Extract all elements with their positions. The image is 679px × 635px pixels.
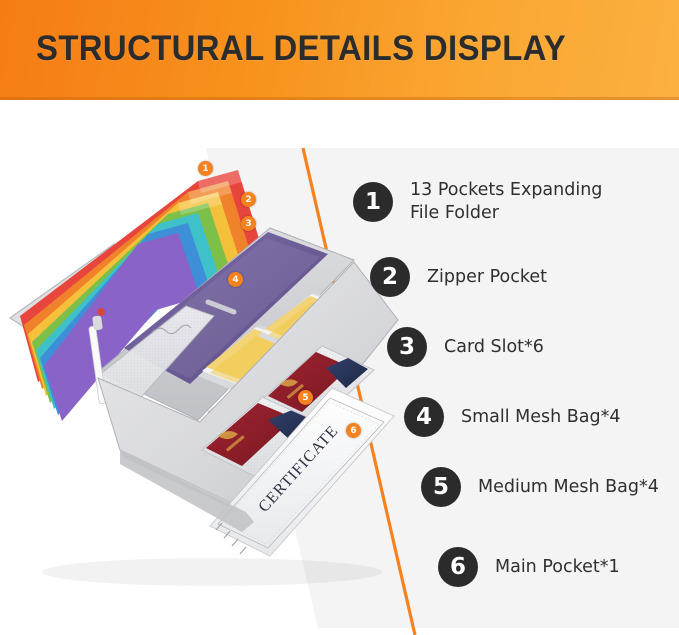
feature-number-2: 2 [370, 257, 410, 297]
header-banner: STRUCTURAL DETAILS DISPLAY [0, 0, 679, 100]
feature-item-2: 2 Zipper Pocket [370, 257, 547, 297]
feature-label-6: Main Pocket*1 [495, 556, 620, 579]
feature-number-5: 5 [421, 467, 461, 507]
feature-label-2: Zipper Pocket [427, 266, 547, 289]
feature-number-4: 4 [404, 397, 444, 437]
feature-label-3: Card Slot*6 [444, 336, 544, 359]
content-area: CERTIFICATE 1 2 3 4 5 6 1 13 Pockets Exp… [0, 100, 679, 635]
feature-item-5: 5 Medium Mesh Bag*4 [421, 467, 659, 507]
feature-list: 1 13 Pockets Expanding File Folder 2 Zip… [0, 100, 679, 635]
feature-label-1: 13 Pockets Expanding File Folder [410, 179, 602, 225]
feature-number-3: 3 [387, 327, 427, 367]
feature-item-1: 1 13 Pockets Expanding File Folder [353, 179, 602, 225]
feature-label-4: Small Mesh Bag*4 [461, 406, 621, 429]
feature-number-6: 6 [438, 547, 478, 587]
feature-item-4: 4 Small Mesh Bag*4 [404, 397, 621, 437]
feature-number-1: 1 [353, 182, 393, 222]
feature-item-6: 6 Main Pocket*1 [438, 547, 620, 587]
feature-label-5: Medium Mesh Bag*4 [478, 476, 659, 499]
page-title: STRUCTURAL DETAILS DISPLAY [36, 24, 566, 74]
feature-item-3: 3 Card Slot*6 [387, 327, 544, 367]
